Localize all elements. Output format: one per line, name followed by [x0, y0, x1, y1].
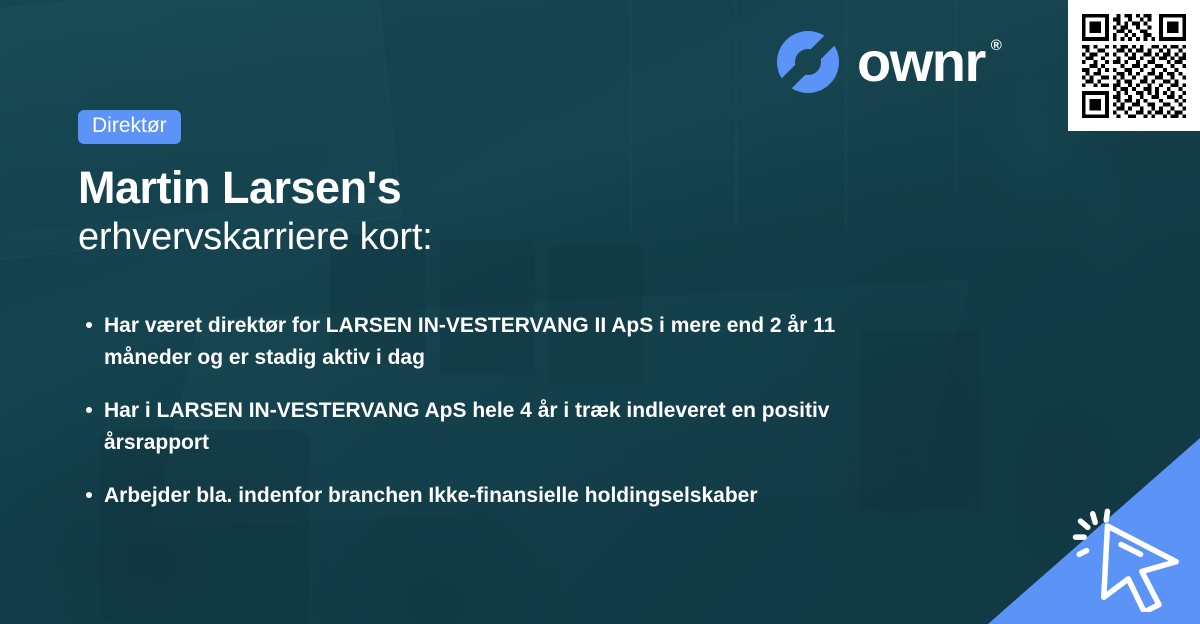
list-item: Har i LARSEN IN-VESTERVANG ApS hele 4 år…: [78, 395, 908, 459]
qr-code-graphic: [1078, 10, 1190, 122]
page-title: Martin Larsen's: [78, 164, 958, 212]
ownr-logo[interactable]: ownr®: [776, 30, 985, 94]
ownr-circle-swoosh-icon: [776, 30, 840, 94]
ownr-wordmark-text: ownr: [857, 30, 985, 93]
qr-code[interactable]: [1068, 0, 1200, 131]
registered-trademark-symbol: ®: [991, 38, 1002, 53]
ownr-wordmark: ownr®: [857, 34, 985, 90]
career-highlights-list: Har været direktør for LARSEN IN-VESTERV…: [78, 310, 978, 512]
list-item: Har været direktør for LARSEN IN-VESTERV…: [78, 310, 908, 374]
role-badge: Direktør: [78, 110, 181, 144]
business-career-card: ownr®: [0, 0, 1200, 624]
headline-block: Direktør Martin Larsen's erhvervskarrier…: [78, 110, 958, 258]
click-cursor-icon: [1070, 504, 1194, 612]
list-item: Arbejder bla. indenfor branchen Ikke-fin…: [78, 480, 908, 512]
page-subtitle: erhvervskarriere kort:: [78, 216, 958, 259]
